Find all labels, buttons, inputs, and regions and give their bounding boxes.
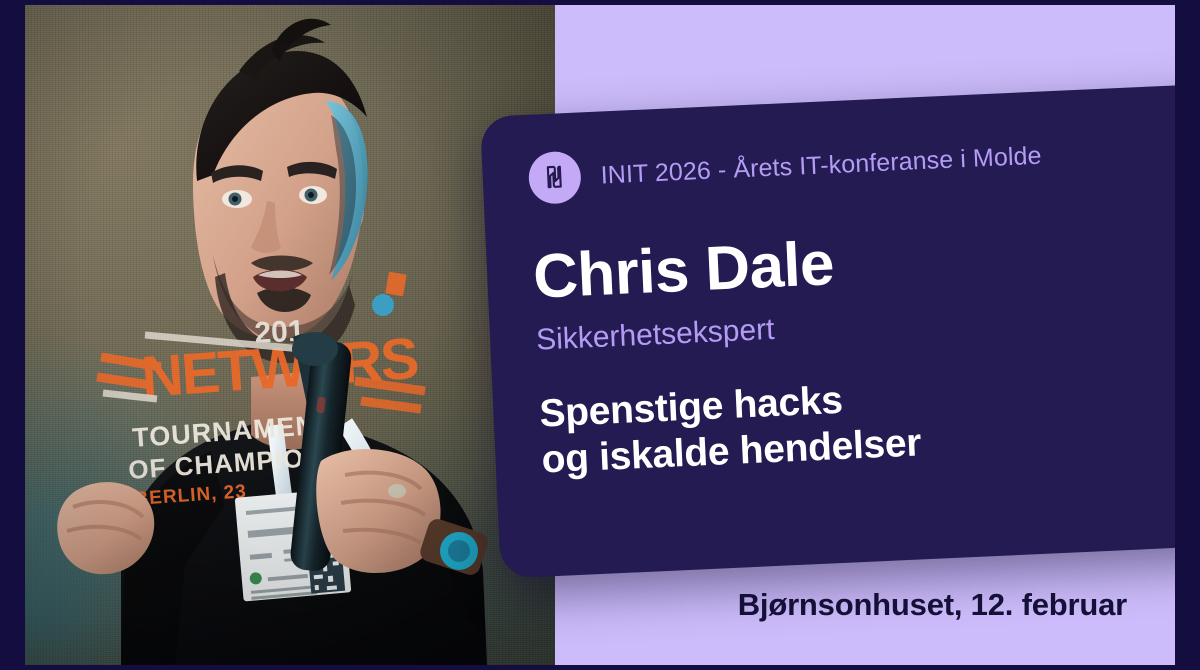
speaker-card: INIT 2026 - Årets IT-konferanse i Molde … [480,83,1175,579]
speaker-name: Chris Dale [532,216,1175,308]
photo-vignette [25,5,555,665]
poster-inner: 201 NETWARS TOURNAMENT OF [25,5,1175,665]
conference-eyebrow-label: INIT 2026 - Årets IT-konferanse i Molde [600,141,1042,190]
conference-eyebrow-row: INIT 2026 - Årets IT-konferanse i Molde [528,122,1175,204]
speaker-photo: 201 NETWARS TOURNAMENT OF [25,5,555,665]
init-n-logo-icon [528,151,582,205]
poster-canvas: 201 NETWARS TOURNAMENT OF [0,0,1200,670]
speaker-card-content: INIT 2026 - Årets IT-konferanse i Molde … [480,83,1175,579]
venue-date-label: Bjørnsonhuset, 12. februar [738,587,1127,623]
talk-title: Spenstige hacks og iskalde hendelser [539,361,1175,483]
